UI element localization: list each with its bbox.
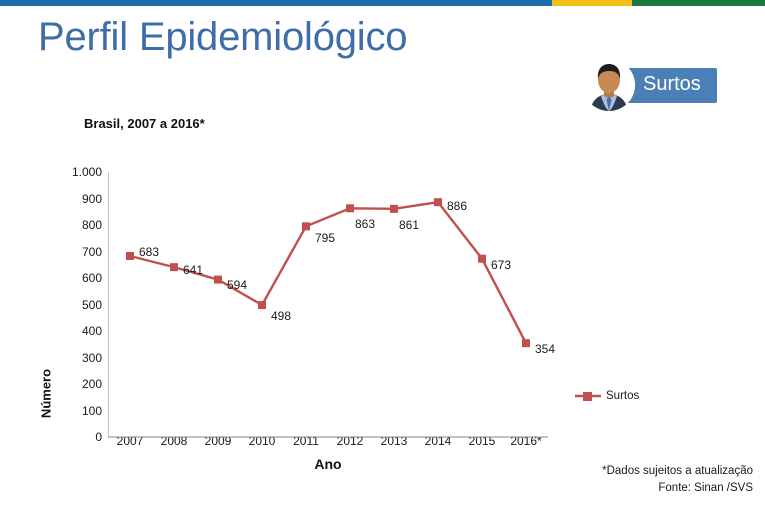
data-point-marker xyxy=(258,301,266,309)
data-point-marker xyxy=(126,252,134,260)
footnotes: *Dados sujeitos a atualização Fonte: Sin… xyxy=(602,463,753,498)
y-axis-tick-labels: 01002003004005006007008009001.000 xyxy=(50,150,102,415)
page-title: Perfil Epidemiológico xyxy=(38,16,407,58)
y-tick-label: 900 xyxy=(56,192,102,206)
y-tick-label: 200 xyxy=(56,377,102,391)
y-tick-label: 400 xyxy=(56,324,102,338)
accent-segment-yellow xyxy=(552,0,632,6)
data-point-label: 641 xyxy=(183,263,203,277)
plot-area: 683641594498795863861886673354 xyxy=(108,172,548,437)
y-tick-label: 800 xyxy=(56,218,102,232)
chart-canvas xyxy=(108,172,550,439)
x-axis-title: Ano xyxy=(108,456,548,472)
data-point-marker xyxy=(390,205,398,213)
data-point-label: 498 xyxy=(271,309,291,323)
y-tick-label: 1.000 xyxy=(56,165,102,179)
data-point-marker xyxy=(214,276,222,284)
section-tag: Surtos xyxy=(583,56,717,114)
data-point-label: 795 xyxy=(315,231,335,245)
legend-label: Surtos xyxy=(606,390,639,402)
data-point-marker xyxy=(346,204,354,212)
chart-subtitle: Brasil, 2007 a 2016* xyxy=(84,116,205,131)
chart-legend: Surtos xyxy=(575,390,639,402)
y-tick-label: 600 xyxy=(56,271,102,285)
data-point-marker xyxy=(522,339,530,347)
accent-segment-green xyxy=(632,0,765,6)
data-point-marker xyxy=(170,263,178,271)
y-tick-label: 300 xyxy=(56,351,102,365)
footnote-source: Fonte: Sinan /SVS xyxy=(602,480,753,497)
data-point-label: 886 xyxy=(447,199,467,213)
data-point-label: 594 xyxy=(227,278,247,292)
data-point-marker xyxy=(302,222,310,230)
data-point-label: 683 xyxy=(139,245,159,259)
y-tick-label: 500 xyxy=(56,298,102,312)
legend-marker-icon xyxy=(575,390,601,402)
data-point-label: 863 xyxy=(355,217,375,231)
footnote-update: *Dados sujeitos a atualização xyxy=(602,463,753,480)
top-accent-bar xyxy=(0,0,765,6)
line-chart: Número 01002003004005006007008009001.000… xyxy=(0,150,700,480)
data-point-label: 861 xyxy=(399,218,419,232)
person-avatar-icon xyxy=(583,59,635,111)
data-point-label: 354 xyxy=(535,342,555,356)
data-point-marker xyxy=(434,198,442,206)
y-tick-label: 100 xyxy=(56,404,102,418)
data-point-marker xyxy=(478,255,486,263)
accent-segment-blue xyxy=(0,0,552,6)
y-tick-label: 700 xyxy=(56,245,102,259)
data-point-label: 673 xyxy=(491,258,511,272)
